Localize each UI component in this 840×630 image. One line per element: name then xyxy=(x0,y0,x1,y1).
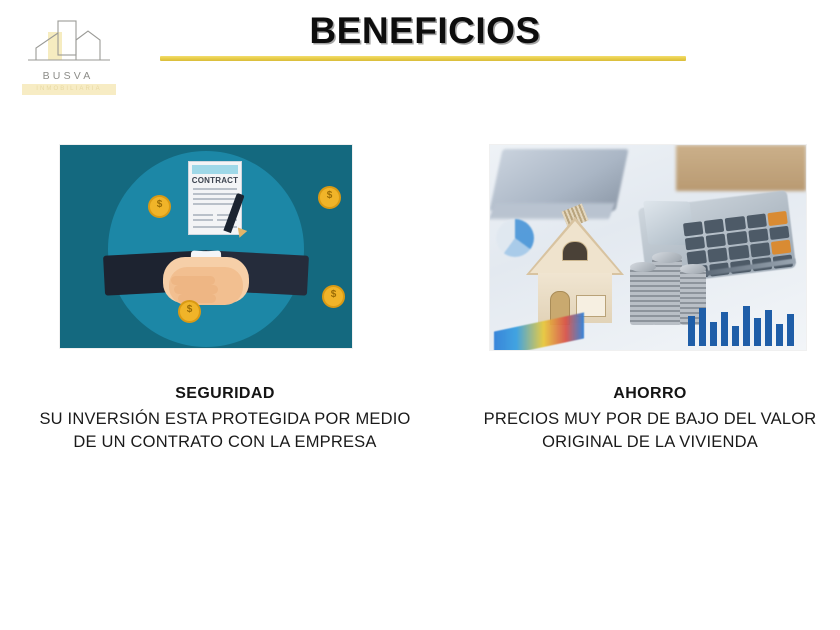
contract-header-bar xyxy=(192,165,238,174)
coin-icon: $ xyxy=(318,186,341,209)
benefit-panel-seguridad: CONTRACT $ xyxy=(60,145,352,348)
coin-icon: $ xyxy=(148,195,171,218)
coin-icon: $ xyxy=(322,285,345,308)
handshake-contract-illustration: CONTRACT $ xyxy=(60,145,352,348)
coin-stack xyxy=(652,257,682,325)
benefit-heading: AHORRO xyxy=(470,385,830,403)
coin-stack-top xyxy=(630,262,656,272)
house-attic-window xyxy=(562,241,588,261)
logo-wordmark: BUSVA xyxy=(18,70,118,82)
laptop-keyboard xyxy=(490,149,629,211)
bar-chart-on-paper xyxy=(688,302,800,346)
coin-stack-top xyxy=(652,252,682,263)
benefit-caption-seguridad: SEGURIDAD SU INVERSIÓN ESTA PROTEGIDA PO… xyxy=(30,385,420,455)
coin-icon: $ xyxy=(178,300,201,323)
page-title: BENEFICIOS xyxy=(160,10,690,52)
wooden-desk-area xyxy=(676,145,806,191)
benefit-panel-ahorro xyxy=(490,145,806,350)
company-logo: BUSVA INMOBILIARIA xyxy=(18,18,118,104)
benefit-heading: SEGURIDAD xyxy=(30,385,420,403)
benefit-body-text: PRECIOS MUY POR DE BAJO DEL VALOR ORIGIN… xyxy=(470,408,830,455)
handshake-finger xyxy=(174,285,218,294)
benefit-caption-ahorro: AHORRO PRECIOS MUY POR DE BAJO DEL VALOR… xyxy=(470,385,830,455)
wooden-house-coins-calculator-photo xyxy=(490,145,806,350)
slide-canvas: BUSVA INMOBILIARIA BENEFICIOS CONTRACT xyxy=(0,0,840,630)
handshake-finger xyxy=(171,276,215,285)
building-outline-icon xyxy=(18,18,118,70)
benefit-body-text: SU INVERSIÓN ESTA PROTEGIDA POR MEDIO DE… xyxy=(30,408,420,455)
title-underline-rule xyxy=(160,56,686,61)
wooden-model-house xyxy=(526,207,624,325)
contract-label: CONTRACT xyxy=(189,176,241,185)
coin-stack-top xyxy=(680,264,706,274)
logo-tagline: INMOBILIARIA xyxy=(22,84,116,95)
